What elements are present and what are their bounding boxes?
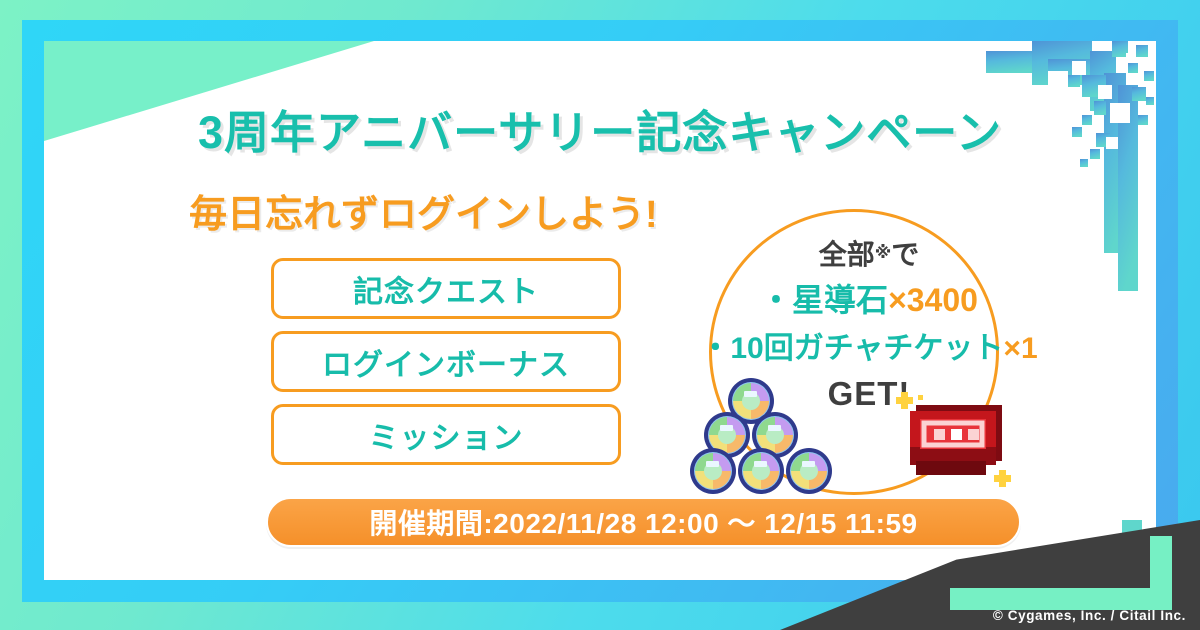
reward-heading-text: 全部 [819, 239, 875, 270]
reward-heading-suffix: で [891, 239, 919, 270]
reward-item-1-name: ・星導石 [760, 282, 888, 318]
mint-corner-bracket [950, 536, 1190, 618]
reward-heading: 全部※で [689, 233, 1049, 273]
content-card: 3周年アニバーサリー記念キャンペーン 毎日忘れずログインしよう! 記念クエスト … [44, 41, 1156, 580]
button-label: ログインボーナス [322, 340, 570, 384]
reward-item-2: ・10回ガチャチケット×1 [689, 323, 1049, 367]
button-login-bonus[interactable]: ログインボーナス [271, 331, 621, 392]
page-title: 3周年アニバーサリー記念キャンペーン [44, 96, 1156, 161]
reward-item-2-name: ・10回ガチャチケット [700, 332, 1003, 365]
page-subtitle: 毎日忘れずログインしよう! [189, 183, 658, 238]
footnotes: ※各キャンペーン開催期間内に毎日ログイン、全クエストをクリア、 全ミッションを達… [88, 565, 471, 580]
gacha-ticket-pixel-icon [894, 381, 1024, 501]
button-mission[interactable]: ミッション [271, 404, 621, 465]
button-label: 記念クエスト [353, 267, 539, 311]
reward-item-2-amount: ×1 [1003, 332, 1037, 365]
reward-item-1: ・星導石×3400 [689, 275, 1049, 321]
reward-summary: 全部※で ・星導石×3400 ・10回ガチャチケット×1 GET! [689, 209, 1049, 499]
reward-heading-mark: ※ [875, 243, 892, 262]
campaign-button-list: 記念クエスト ログインボーナス ミッション [271, 258, 621, 465]
period-pill: 開催期間:2022/11/28 12:00 〜 12/15 11:59 [266, 497, 1021, 547]
star-gem-pixel-icon [689, 377, 839, 497]
campaign-banner: 3周年アニバーサリー記念キャンペーン 毎日忘れずログインしよう! 記念クエスト … [0, 0, 1200, 630]
period-label: 開催期間:2022/11/28 12:00 〜 12/15 11:59 [369, 502, 917, 542]
button-anniversary-quest[interactable]: 記念クエスト [271, 258, 621, 319]
reward-item-1-amount: ×3400 [888, 282, 978, 318]
button-label: ミッション [369, 413, 524, 457]
